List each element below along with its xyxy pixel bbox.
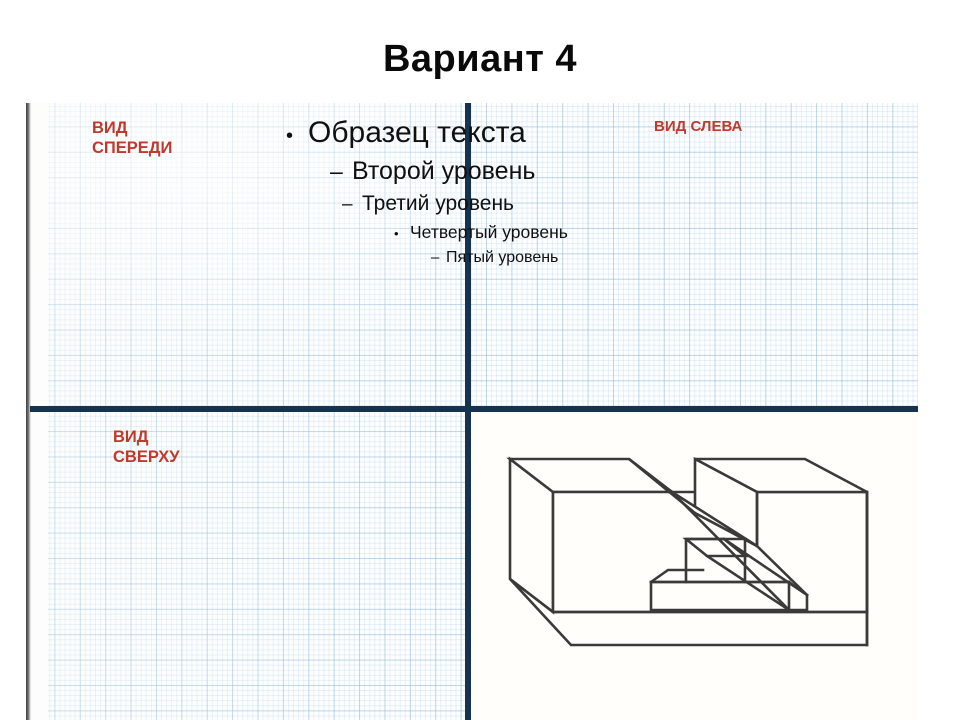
outline-text-level-3: Третий уровень bbox=[362, 192, 514, 216]
dash-marker-level-2: – bbox=[330, 158, 352, 185]
bullet-marker-level-4: • bbox=[394, 226, 410, 241]
outline-item-level-3: – Третий уровень bbox=[286, 192, 706, 216]
outline-text-level-4: Четвертый уровень bbox=[410, 222, 568, 243]
outline-text-level-5: Пятый уровень bbox=[446, 249, 558, 267]
quadrant-label-top-view: ВИД СВЕРХУ bbox=[113, 427, 179, 467]
isometric-block-with-t-slot-icon bbox=[471, 412, 918, 720]
outline-text-level-1: Образец текста bbox=[308, 116, 526, 150]
bullet-marker-level-1: • bbox=[286, 125, 308, 148]
dash-marker-level-5: – bbox=[431, 249, 446, 266]
dash-marker-level-3: – bbox=[342, 194, 362, 216]
outline-text-level-2: Второй уровень bbox=[352, 157, 535, 186]
outline-item-level-4: • Четвертый уровень bbox=[286, 222, 706, 243]
slide-canvas: Вариант 4 ВИД СПЕРЕДИ ВИД СЛЕВА ВИД СВЕР… bbox=[0, 0, 960, 720]
page-title: Вариант 4 bbox=[0, 38, 960, 81]
quadrant-label-front-view: ВИД СПЕРЕДИ bbox=[92, 118, 172, 158]
isometric-drawing-panel bbox=[471, 412, 918, 720]
outline-item-level-1: • Образец текста bbox=[286, 116, 706, 150]
outline-item-level-2: – Второй уровень bbox=[286, 157, 706, 186]
outline-item-level-5: – Пятый уровень bbox=[286, 249, 706, 267]
outline-text-block: • Образец текста – Второй уровень – Трет… bbox=[286, 116, 706, 267]
